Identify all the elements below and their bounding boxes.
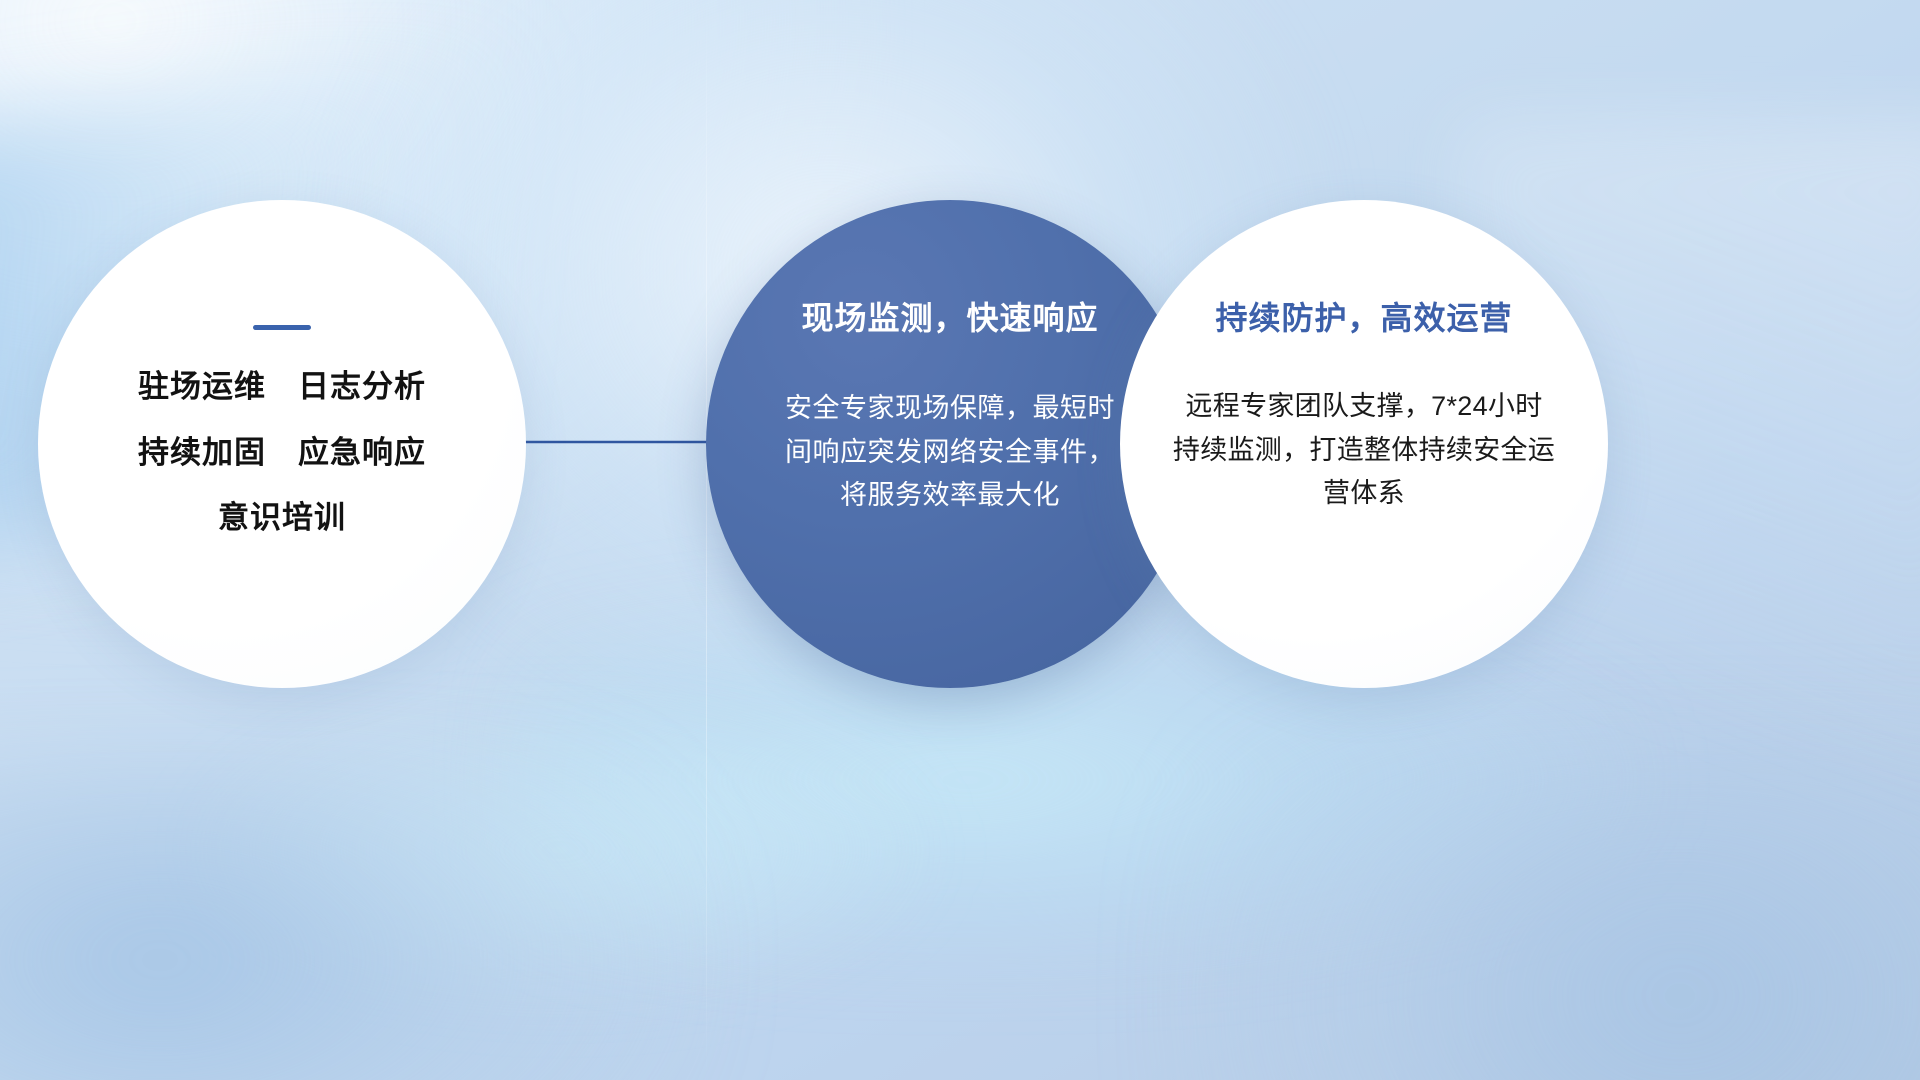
middle-card-body: 安全专家现场保障，最短时间响应突发网络安全事件，将服务效率最大化 bbox=[785, 387, 1115, 518]
capability-circle-left[interactable]: 驻场运维 日志分析 持续加固 应急响应 意识培训 bbox=[38, 200, 526, 688]
list-item[interactable]: 应急响应 bbox=[298, 432, 426, 474]
list-item[interactable]: 驻场运维 bbox=[138, 366, 266, 408]
right-card-title: 持续防护，高效运营 bbox=[1215, 293, 1512, 339]
table-row: 驻场运维 日志分析 bbox=[138, 366, 426, 408]
table-row: 持续加固 应急响应 bbox=[138, 432, 426, 474]
list-item[interactable]: 持续加固 bbox=[138, 432, 266, 474]
right-card-body: 远程专家团队支撑，7*24小时持续监测，打造整体持续安全运营体系 bbox=[1172, 385, 1556, 516]
arrow-left-icon bbox=[505, 431, 738, 453]
divider-bar bbox=[253, 325, 311, 330]
list-item[interactable]: 意识培训 bbox=[218, 497, 346, 539]
diagram-stage: 驻场运维 日志分析 持续加固 应急响应 意识培训 现场监测，快速响应 安全专家现… bbox=[0, 0, 1920, 1080]
list-item[interactable]: 日志分析 bbox=[298, 366, 426, 408]
middle-card-title: 现场监测，快速响应 bbox=[801, 293, 1098, 339]
capability-tag-list: 驻场运维 日志分析 持续加固 应急响应 意识培训 bbox=[38, 366, 526, 563]
table-row: 意识培训 bbox=[218, 497, 346, 539]
capability-circle-right[interactable]: 持续防护，高效运营 远程专家团队支撑，7*24小时持续监测，打造整体持续安全运营… bbox=[1120, 200, 1608, 688]
